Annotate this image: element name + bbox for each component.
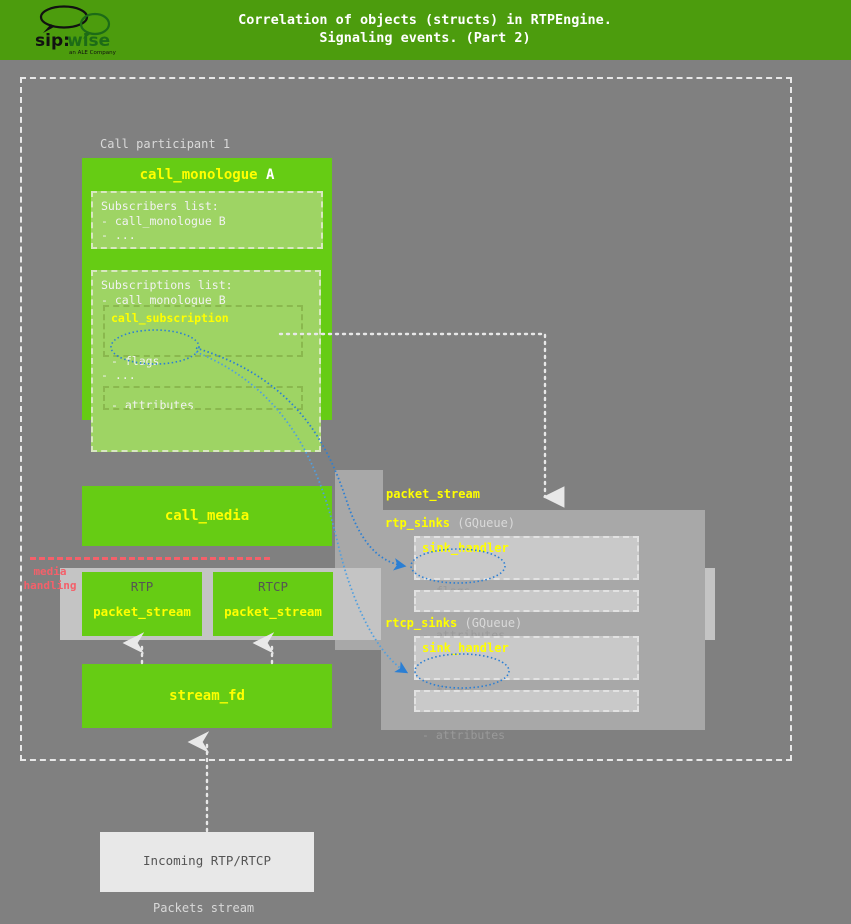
incoming-rtp-rtcp-box: Incoming RTP/RTCP xyxy=(100,832,314,892)
svg-text:wise: wise xyxy=(67,31,110,51)
media-handling-divider xyxy=(30,557,270,560)
call-media-box: call_media xyxy=(82,486,332,546)
rtcp-sink-handler-title: sink_handler xyxy=(422,641,631,655)
rtcp-packet-stream-name: packet_stream xyxy=(213,604,333,619)
media-handling-label: mediahandling xyxy=(22,565,78,593)
rtcp-sink-handler-fields: - flags - attributes xyxy=(422,655,631,771)
incoming-rtp-rtcp-text: Incoming RTP/RTCP xyxy=(100,853,314,868)
call-monologue-title: call_monologue A xyxy=(82,167,332,183)
page-title: Correlation of objects (structs) in RTPE… xyxy=(150,11,700,47)
call-participant-label: Call participant 1 xyxy=(100,137,230,151)
rtp-packet-stream-kind: RTP xyxy=(82,579,202,594)
media-handling-label-line: media xyxy=(22,565,78,579)
rtcp-sinks-name: rtcp_sinks xyxy=(385,616,457,630)
call-monologue-title-text: call_monologue xyxy=(140,167,258,183)
packets-stream-caption: Packets stream xyxy=(153,901,254,915)
rtp-sinks-label: rtp_sinks (GQueue) xyxy=(385,516,515,530)
stream-fd-title: stream_fd xyxy=(82,688,332,704)
subscriptions-list-box: Subscriptions list: - call monologue B c… xyxy=(91,270,321,452)
subscriptions-more: - ... xyxy=(101,368,136,382)
rtp-sink-handler-title: sink_handler xyxy=(422,541,631,555)
packet-stream-detail-panel: rtp_sinks (GQueue) sink_handler - flags … xyxy=(381,510,705,730)
rtp-sink-handler-placeholder xyxy=(414,590,639,612)
stream-fd-box: stream_fd xyxy=(82,664,332,728)
title-line-1: Correlation of objects (structs) in RTPE… xyxy=(150,11,700,29)
svg-text:sip:: sip: xyxy=(35,31,70,51)
rtp-sinks-type: (GQueue) xyxy=(457,516,515,530)
subscribers-list-item: - ... xyxy=(101,228,313,243)
svg-text:an ALE Company: an ALE Company xyxy=(69,50,117,56)
subscribers-list-item: - call_monologue B xyxy=(101,214,313,229)
subscribers-list-box: Subscribers list: - call_monologue B - .… xyxy=(91,191,323,249)
rtp-packet-stream-box: RTP packet_stream xyxy=(82,572,202,636)
call-monologue-title-suffix: A xyxy=(258,167,275,183)
call-subscription-field: - flags xyxy=(111,354,295,369)
rtcp-sink-handler-box: sink_handler - flags - attributes xyxy=(414,636,639,680)
media-handling-label-line: handling xyxy=(22,579,78,593)
call-monologue-box: call_monologue A Subscribers list: - cal… xyxy=(82,158,332,420)
sipwise-logo-svg: sip: wise an ALE Company xyxy=(33,4,125,56)
rtcp-sink-handler-field: - attributes xyxy=(422,728,631,743)
packet-stream-detail-label: packet_stream xyxy=(386,487,480,501)
rtp-sink-handler-box: sink_handler - flags - attributes xyxy=(414,536,639,580)
rtp-packet-stream-name: packet_stream xyxy=(82,604,202,619)
call-subscription-fields: - flags - attributes xyxy=(111,325,295,441)
call-subscription-title: call_subscription xyxy=(111,311,295,325)
call-media-title: call_media xyxy=(82,508,332,524)
title-line-2: Signaling events. (Part 2) xyxy=(150,29,700,47)
sipwise-logo: sip: wise an ALE Company xyxy=(33,4,125,56)
subscribers-list-header: Subscribers list: xyxy=(101,199,313,214)
rtcp-packet-stream-kind: RTCP xyxy=(213,579,333,594)
rtcp-sink-handler-placeholder xyxy=(414,690,639,712)
rtp-sinks-name: rtp_sinks xyxy=(385,516,450,530)
call-subscription-box: call_subscription - flags - attributes xyxy=(103,305,303,357)
rtcp-sinks-type: (GQueue) xyxy=(464,616,522,630)
rtcp-sinks-label: rtcp_sinks (GQueue) xyxy=(385,616,522,630)
subscriptions-list-header: Subscriptions list: xyxy=(101,278,311,293)
rtcp-packet-stream-box: RTCP packet_stream xyxy=(213,572,333,636)
app-header: sip: wise an ALE Company Correlation of … xyxy=(0,0,851,60)
subscriptions-placeholder-box xyxy=(103,386,303,410)
